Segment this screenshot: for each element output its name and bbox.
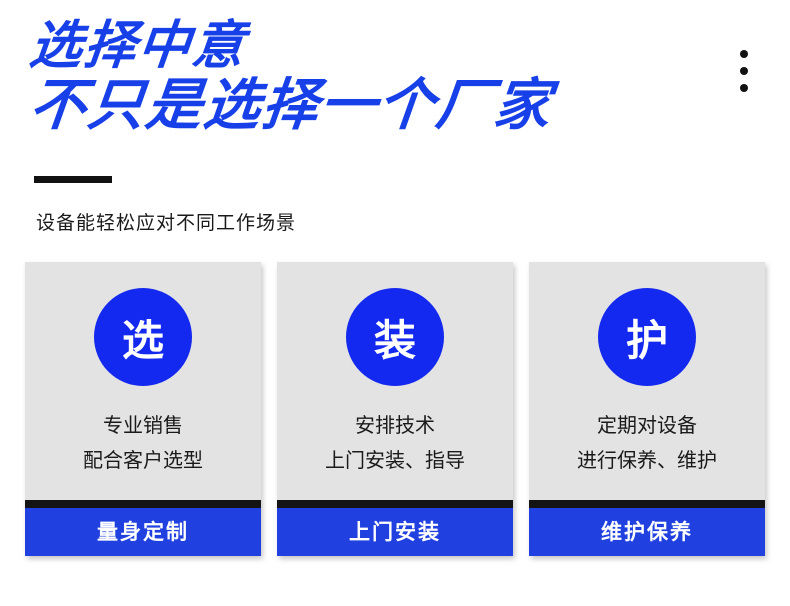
- service-card: 护 定期对设备 进行保养、维护 维护保养: [529, 262, 765, 556]
- headline-underline-rule: [34, 176, 112, 183]
- card-description-line-1: 专业销售: [83, 408, 203, 443]
- dot-icon: [740, 67, 748, 75]
- page-headline: 选择中意 不只是选择一个厂家: [30, 18, 552, 137]
- service-card: 装 安排技术 上门安装、指导 上门安装: [277, 262, 513, 556]
- card-footer-label: 量身定制: [25, 508, 261, 556]
- card-footer: 上门安装: [277, 500, 513, 556]
- card-description-line-2: 上门安装、指导: [325, 443, 465, 478]
- card-footer-label: 上门安装: [277, 508, 513, 556]
- card-description: 安排技术 上门安装、指导: [325, 408, 465, 500]
- card-description-line-2: 配合客户选型: [83, 443, 203, 478]
- card-badge-circle: 选: [94, 288, 192, 386]
- service-card: 选 专业销售 配合客户选型 量身定制: [25, 262, 261, 556]
- decorative-dots: [740, 50, 748, 92]
- dot-icon: [740, 50, 748, 58]
- card-description-line-1: 定期对设备: [577, 408, 717, 443]
- dot-icon: [740, 84, 748, 92]
- page-subtitle: 设备能轻松应对不同工作场景: [36, 208, 296, 235]
- card-footer-label: 维护保养: [529, 508, 765, 556]
- card-description: 专业销售 配合客户选型: [83, 408, 203, 500]
- headline-line-2: 不只是选择一个厂家: [27, 76, 555, 136]
- headline-line-1: 选择中意: [27, 18, 555, 74]
- card-badge-circle: 装: [346, 288, 444, 386]
- card-description-line-1: 安排技术: [325, 408, 465, 443]
- card-footer: 量身定制: [25, 500, 261, 556]
- card-badge-circle: 护: [598, 288, 696, 386]
- card-description: 定期对设备 进行保养、维护: [577, 408, 717, 500]
- service-card-list: 选 专业销售 配合客户选型 量身定制 装 安排技术 上门安装、指导 上门安装 护…: [25, 262, 765, 556]
- card-description-line-2: 进行保养、维护: [577, 443, 717, 478]
- card-footer: 维护保养: [529, 500, 765, 556]
